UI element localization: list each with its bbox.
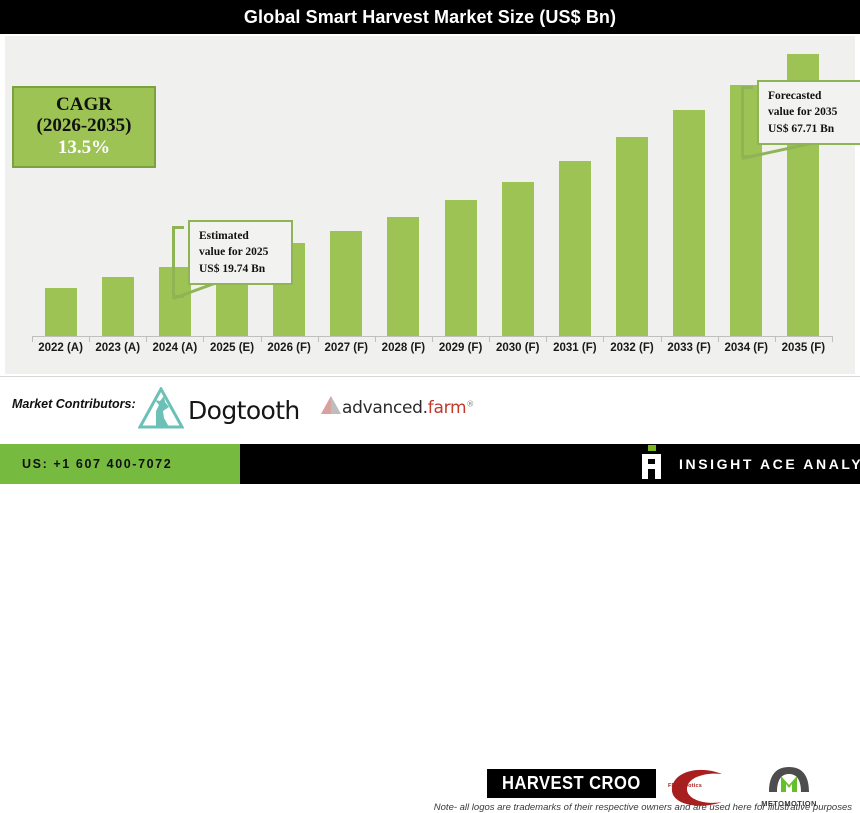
x-axis-label: 2024 (A) bbox=[146, 342, 203, 354]
dogtooth-wordmark: Dogtooth bbox=[188, 396, 300, 425]
x-axis-label: 2034 (F) bbox=[718, 342, 775, 354]
x-axis-label: 2033 (F) bbox=[661, 342, 718, 354]
bar-slot bbox=[489, 36, 546, 337]
advanced-farm-wordmark-1: advanced. bbox=[342, 398, 428, 418]
estimated-callout-line1: Estimated bbox=[199, 228, 282, 244]
footer-contact-block: US: +1 607 400-7072 bbox=[0, 444, 240, 484]
bar-slot bbox=[203, 36, 260, 337]
advanced-farm-wordmark-2: farm bbox=[428, 398, 466, 418]
bar-2027[interactable] bbox=[330, 231, 362, 337]
bar-2029[interactable] bbox=[445, 200, 477, 337]
footer-phone-number[interactable]: US: +1 607 400-7072 bbox=[22, 457, 172, 471]
estimated-value-callout: Estimated value for 2025 US$ 19.74 Bn bbox=[188, 220, 293, 285]
bar-2023[interactable] bbox=[102, 277, 134, 337]
bar-2031[interactable] bbox=[559, 161, 591, 337]
insight-ace-a-icon bbox=[639, 445, 665, 484]
page-title: Global Smart Harvest Market Size (US$ Bn… bbox=[244, 7, 616, 28]
infographic-page: Global Smart Harvest Market Size (US$ Bn… bbox=[0, 0, 860, 484]
harvest-croo-wordmark: HARVEST CROO bbox=[502, 773, 641, 794]
header-bar: Global Smart Harvest Market Size (US$ Bn… bbox=[0, 0, 860, 34]
footer-brand: INSIGHT ACE ANALYTIC bbox=[639, 444, 860, 484]
footer-bar: US: +1 607 400-7072 INSIGHT ACE ANALYTIC bbox=[0, 444, 860, 484]
cagr-period: (2026-2035) bbox=[37, 115, 132, 137]
x-axis-label: 2028 (F) bbox=[375, 342, 432, 354]
dogtooth-triangle-icon bbox=[138, 387, 184, 434]
bar-slot bbox=[32, 36, 89, 337]
logo-harvest-croo: HARVEST CROO bbox=[487, 769, 656, 798]
x-axis-label: 2032 (F) bbox=[603, 342, 660, 354]
x-axis-labels: 2022 (A)2023 (A)2024 (A)2025 (E)2026 (F)… bbox=[32, 342, 832, 354]
estimated-callout-line2: value for 2025 bbox=[199, 244, 282, 260]
x-axis-label: 2031 (F) bbox=[546, 342, 603, 354]
chart-panel: 2022 (A)2023 (A)2024 (A)2025 (E)2026 (F)… bbox=[5, 36, 855, 374]
x-axis-label: 2029 (F) bbox=[432, 342, 489, 354]
bar-2030[interactable] bbox=[502, 182, 534, 337]
bar-slot bbox=[432, 36, 489, 337]
x-axis-label: 2026 (F) bbox=[261, 342, 318, 354]
market-contributors-label: Market Contributors: bbox=[12, 397, 136, 411]
logo-dogtooth: Dogtooth bbox=[138, 387, 300, 434]
market-contributors-strip: Market Contributors: Dogtooth advanced.f… bbox=[0, 376, 860, 443]
bar-slot bbox=[661, 36, 718, 337]
bar-2032[interactable] bbox=[616, 137, 648, 337]
trademark-note: Note- all logos are trademarks of their … bbox=[434, 802, 852, 813]
bar-2022[interactable] bbox=[45, 288, 77, 337]
bar-2033[interactable] bbox=[673, 110, 705, 337]
ff-robotics-wordmark: FF Robotics bbox=[668, 783, 702, 789]
bar-slot bbox=[375, 36, 432, 337]
logo-advanced-farm: advanced.farm® bbox=[320, 395, 474, 420]
x-axis-tick bbox=[832, 336, 833, 342]
forecasted-callout-line2: value for 2035 bbox=[768, 104, 852, 120]
forecasted-callout-line3: US$ 67.71 Bn bbox=[768, 121, 852, 137]
bar-slot bbox=[89, 36, 146, 337]
x-axis-label: 2027 (F) bbox=[318, 342, 375, 354]
forecasted-value-callout: Forecasted value for 2035 US$ 67.71 Bn bbox=[757, 80, 860, 145]
forecasted-callout-line1: Forecasted bbox=[768, 88, 852, 104]
metomotion-m-icon bbox=[767, 765, 811, 793]
bar-slot bbox=[318, 36, 375, 337]
estimated-callout-line3: US$ 19.74 Bn bbox=[199, 261, 282, 277]
bar-slot bbox=[261, 36, 318, 337]
cagr-box: CAGR (2026-2035) 13.5% bbox=[12, 86, 156, 168]
forecasted-callout-bracket bbox=[741, 86, 753, 158]
cagr-title: CAGR bbox=[56, 95, 112, 115]
bar-series bbox=[32, 36, 832, 337]
x-axis-label: 2025 (E) bbox=[203, 342, 260, 354]
insight-ace-wordmark: INSIGHT ACE ANALYTIC bbox=[679, 456, 860, 472]
bar-slot bbox=[546, 36, 603, 337]
x-axis-label: 2023 (A) bbox=[89, 342, 146, 354]
bar-slot bbox=[603, 36, 660, 337]
estimated-callout-bracket bbox=[172, 226, 184, 298]
x-axis-label: 2022 (A) bbox=[32, 342, 89, 354]
advanced-farm-tm-mark: ® bbox=[466, 399, 474, 408]
advanced-farm-triangle-icon bbox=[320, 395, 342, 420]
x-axis-label: 2035 (F) bbox=[775, 342, 832, 354]
cagr-value: 13.5% bbox=[58, 137, 110, 159]
x-axis-label: 2030 (F) bbox=[489, 342, 546, 354]
bar-2028[interactable] bbox=[387, 217, 419, 337]
